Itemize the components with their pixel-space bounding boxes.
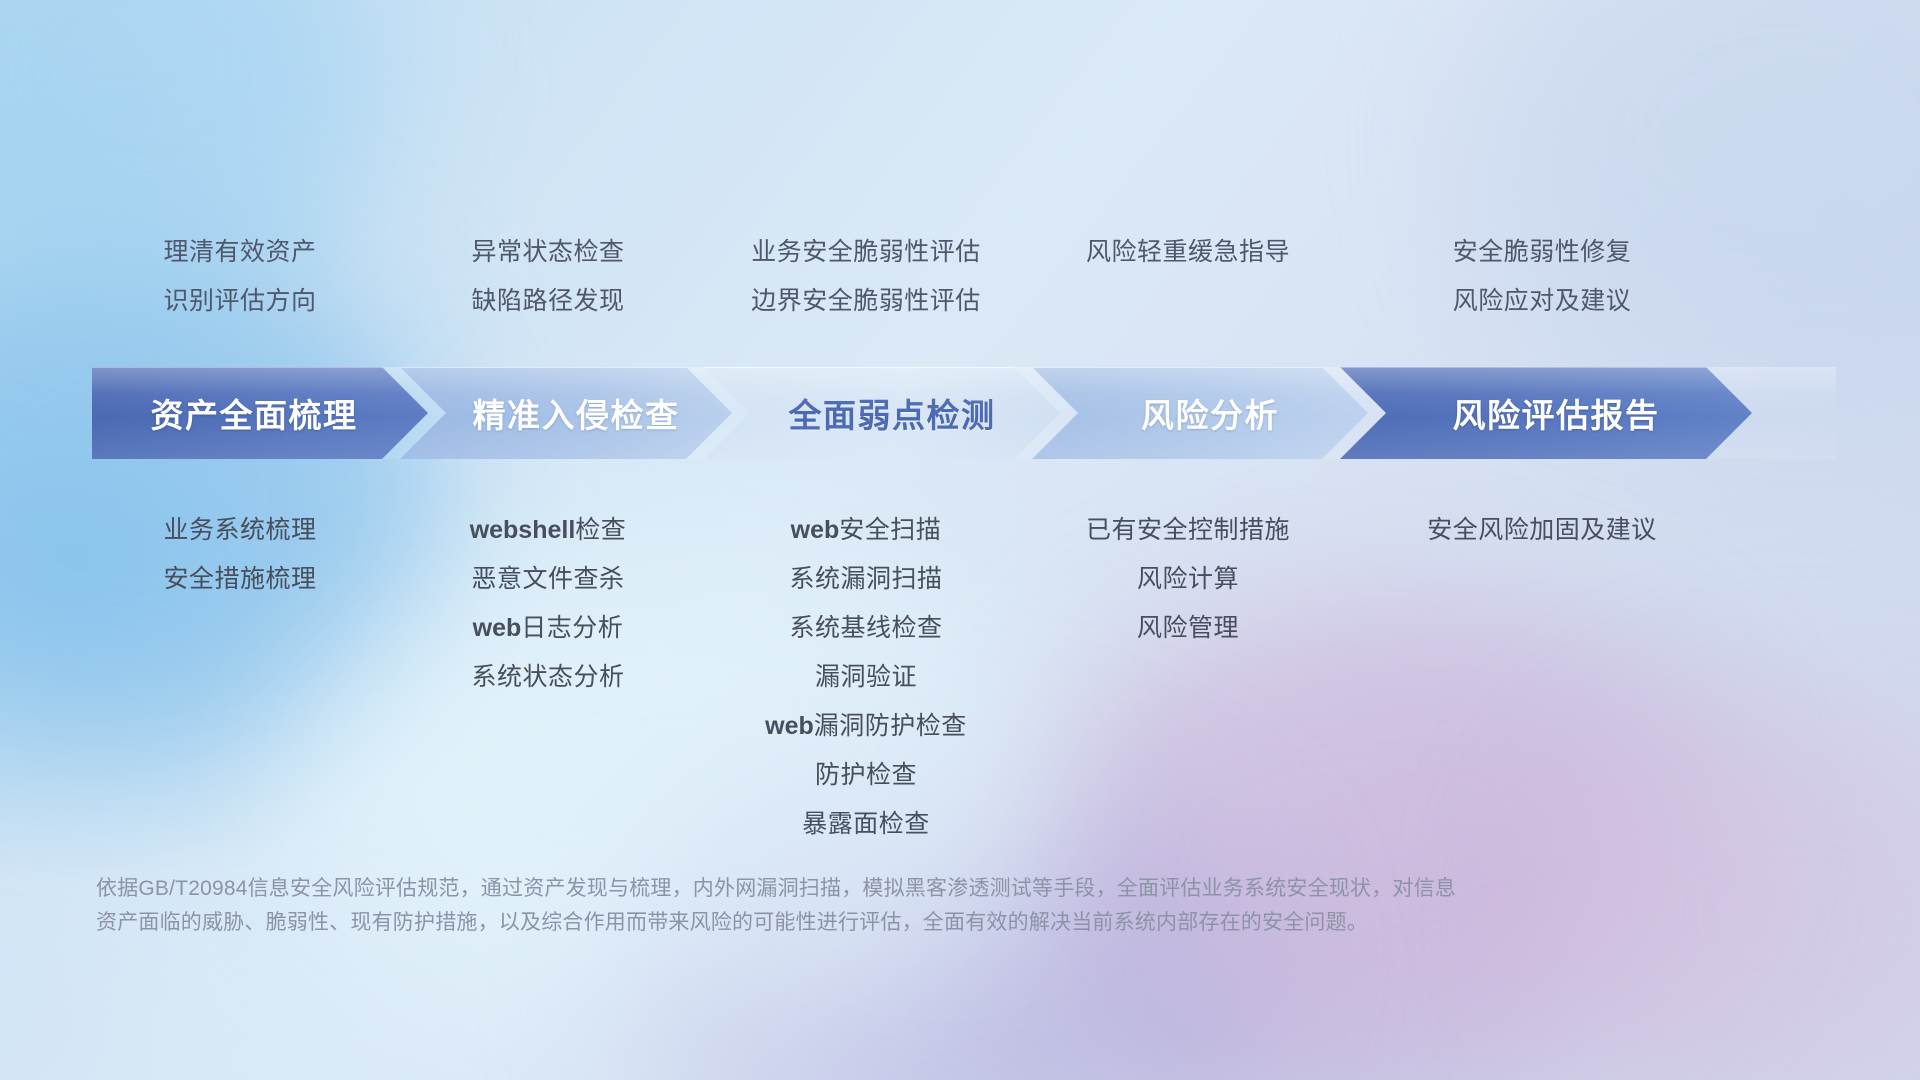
bottom-item: 业务系统梳理 bbox=[92, 506, 388, 555]
bottom-item: 系统基线检查 bbox=[708, 604, 1024, 653]
top-item: 理清有效资产 bbox=[92, 228, 388, 277]
chevron-label: 风险分析 bbox=[1141, 389, 1279, 437]
bottom-label-row: 业务系统梳理 安全措施梳理 webshell检查 恶意文件查杀 web日志分析 … bbox=[92, 506, 1836, 849]
chevron-stage-weakness-detection[interactable]: 全面弱点检测 bbox=[704, 367, 1060, 459]
bottom-column-risk-analysis: 已有安全控制措施 风险计算 风险管理 bbox=[1024, 506, 1352, 849]
chevron-label: 全面弱点检测 bbox=[789, 389, 996, 437]
chevron-label: 风险评估报告 bbox=[1453, 389, 1660, 437]
bottom-item: 防护检查 bbox=[708, 751, 1024, 800]
bottom-item: 漏洞验证 bbox=[708, 653, 1024, 702]
chevron-label: 精准入侵检查 bbox=[473, 389, 680, 437]
top-item: 风险应对及建议 bbox=[1352, 277, 1732, 326]
top-column-weakness-detection: 业务安全脆弱性评估 边界安全脆弱性评估 bbox=[708, 228, 1024, 326]
bottom-item: 风险计算 bbox=[1024, 555, 1352, 604]
bottom-item: webshell检查 bbox=[388, 506, 708, 555]
top-item: 异常状态检查 bbox=[388, 228, 708, 277]
footer-description: 依据GB/T20984信息安全风险评估规范，通过资产发现与梳理，内外网漏洞扫描，… bbox=[96, 872, 1636, 940]
top-label-row: 理清有效资产 识别评估方向 异常状态检查 缺陷路径发现 业务安全脆弱性评估 边界… bbox=[92, 228, 1836, 326]
chevron-stage-asset-inventory[interactable]: 资产全面梳理 bbox=[92, 367, 428, 459]
bottom-item: 恶意文件查杀 bbox=[388, 555, 708, 604]
top-column-risk-report: 安全脆弱性修复 风险应对及建议 bbox=[1352, 228, 1732, 326]
bottom-item: web漏洞防护检查 bbox=[708, 702, 1024, 751]
bottom-column-intrusion-check: webshell检查 恶意文件查杀 web日志分析 系统状态分析 bbox=[388, 506, 708, 849]
chevron-stage-intrusion-check[interactable]: 精准入侵检查 bbox=[400, 367, 732, 459]
top-item: 业务安全脆弱性评估 bbox=[708, 228, 1024, 277]
top-item: 识别评估方向 bbox=[92, 277, 388, 326]
top-column-intrusion-check: 异常状态检查 缺陷路径发现 bbox=[388, 228, 708, 326]
bottom-column-risk-report: 安全风险加固及建议 bbox=[1352, 506, 1732, 849]
footer-line: 资产面临的威胁、脆弱性、现有防护措施，以及综合作用而带来风险的可能性进行评估，全… bbox=[96, 906, 1636, 940]
bottom-item: web安全扫描 bbox=[708, 506, 1024, 555]
latin-prefix: web bbox=[791, 516, 840, 544]
latin-prefix: webshell bbox=[470, 516, 576, 544]
bottom-item: 系统漏洞扫描 bbox=[708, 555, 1024, 604]
latin-prefix: web bbox=[473, 614, 522, 642]
bottom-column-asset-inventory: 业务系统梳理 安全措施梳理 bbox=[92, 506, 388, 849]
bottom-item: 已有安全控制措施 bbox=[1024, 506, 1352, 555]
bottom-item: 风险管理 bbox=[1024, 604, 1352, 653]
chevron-stage-risk-report[interactable]: 风险评估报告 bbox=[1340, 367, 1752, 459]
bottom-item: 安全措施梳理 bbox=[92, 555, 388, 604]
latin-prefix: web bbox=[765, 712, 814, 740]
bottom-item: web日志分析 bbox=[388, 604, 708, 653]
bottom-item: 安全风险加固及建议 bbox=[1352, 506, 1732, 555]
top-item: 风险轻重缓急指导 bbox=[1024, 228, 1352, 277]
top-item: 安全脆弱性修复 bbox=[1352, 228, 1732, 277]
bottom-item: 系统状态分析 bbox=[388, 653, 708, 702]
top-item: 缺陷路径发现 bbox=[388, 277, 708, 326]
bottom-column-weakness-detection: web安全扫描 系统漏洞扫描 系统基线检查 漏洞验证 web漏洞防护检查 防护检… bbox=[708, 506, 1024, 849]
footer-line: 依据GB/T20984信息安全风险评估规范，通过资产发现与梳理，内外网漏洞扫描，… bbox=[96, 872, 1636, 906]
top-column-asset-inventory: 理清有效资产 识别评估方向 bbox=[92, 228, 388, 326]
top-item: 边界安全脆弱性评估 bbox=[708, 277, 1024, 326]
top-column-risk-analysis: 风险轻重缓急指导 bbox=[1024, 228, 1352, 326]
process-chevron-band: 资产全面梳理 精准入侵检查 全面弱点检测 风险分析 风险评估报告 bbox=[92, 367, 1836, 459]
chevron-stage-risk-analysis[interactable]: 风险分析 bbox=[1032, 367, 1368, 459]
chevron-label: 资产全面梳理 bbox=[151, 389, 358, 437]
slide-canvas: 理清有效资产 识别评估方向 异常状态检查 缺陷路径发现 业务安全脆弱性评估 边界… bbox=[0, 0, 1920, 1080]
bottom-item: 暴露面检查 bbox=[708, 800, 1024, 849]
